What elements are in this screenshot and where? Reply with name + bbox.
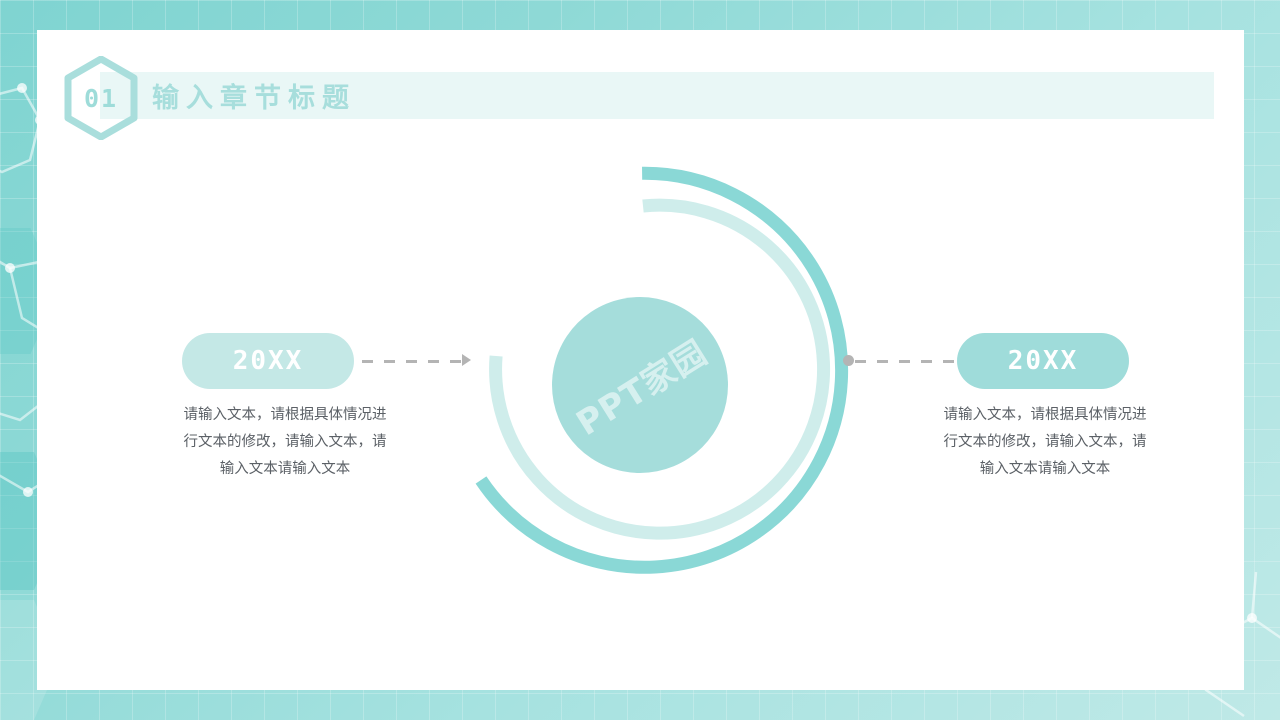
center-circle — [552, 297, 728, 473]
description-line: 请输入文本，请根据具体情况进 — [895, 402, 1195, 429]
description-line: 行文本的修改，请输入文本，请 — [135, 429, 435, 456]
section-number-badge: 01 — [64, 56, 138, 140]
description-line: 请输入文本，请根据具体情况进 — [135, 402, 435, 429]
description-line: 输入文本请输入文本 — [135, 456, 435, 483]
arrow-right-icon — [462, 354, 471, 366]
content-block-left: 20XX 请输入文本，请根据具体情况进 行文本的修改，请输入文本，请 输入文本请… — [135, 333, 435, 483]
description-line: 输入文本请输入文本 — [895, 456, 1195, 483]
year-pill-right[interactable]: 20XX — [957, 333, 1129, 389]
page-title: 输入章节标题 — [152, 72, 356, 119]
connector-dot-icon — [843, 355, 854, 366]
content-block-right: 20XX 请输入文本，请根据具体情况进 行文本的修改，请输入文本，请 输入文本请… — [895, 333, 1195, 483]
slide-canvas: 01 输入章节标题 PPT家园 20XX 请输入文本，请根据具体情况进 行文本的… — [0, 0, 1280, 720]
description-left: 请输入文本，请根据具体情况进 行文本的修改，请输入文本，请 输入文本请输入文本 — [135, 402, 435, 483]
description-line: 行文本的修改，请输入文本，请 — [895, 429, 1195, 456]
section-number-label: 01 — [64, 56, 138, 140]
description-right: 请输入文本，请根据具体情况进 行文本的修改，请输入文本，请 输入文本请输入文本 — [895, 402, 1195, 483]
year-pill-left[interactable]: 20XX — [182, 333, 354, 389]
